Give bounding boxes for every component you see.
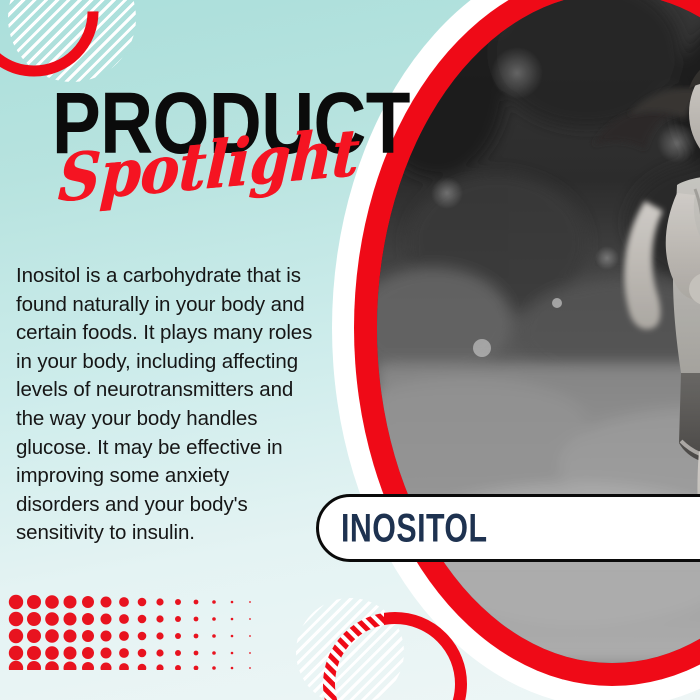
product-name-pill: INOSITOL [316,494,700,562]
hero-photo [377,0,700,663]
product-name-label: INOSITOL [341,505,488,551]
red-ring-top-left [0,0,104,82]
poster-canvas: PRODUCT Spotlight Inositol is a carbohyd… [0,0,700,700]
headline-block: PRODUCT Spotlight [52,86,342,145]
halftone-dot-field [8,594,258,670]
red-ring-bottom-center [310,594,480,700]
body-paragraph: Inositol is a carbohydrate that is found… [16,262,318,548]
hatched-circle-bottom-center [296,598,404,700]
hatched-circle-top-left [8,0,136,82]
hero-photo-art [377,0,700,663]
